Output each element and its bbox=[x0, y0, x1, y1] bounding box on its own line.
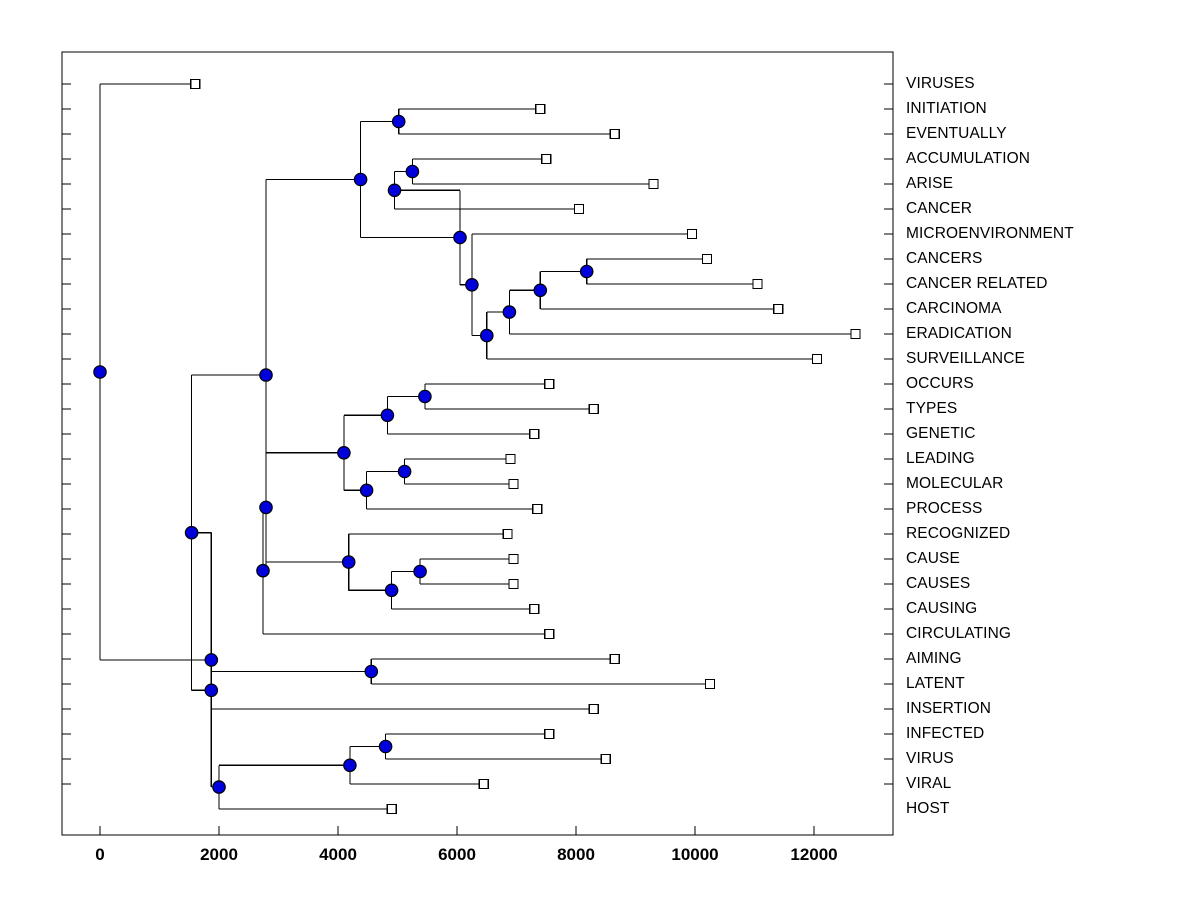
leaf-marker-5 bbox=[575, 205, 584, 214]
leaf-label-infected: INFECTED bbox=[906, 726, 984, 742]
leaf-marker-26 bbox=[545, 730, 554, 739]
dendrogram-canvas bbox=[0, 0, 1200, 900]
cluster-node-z bbox=[534, 284, 546, 296]
leaf-label-recognized: RECOGNIZED bbox=[906, 526, 1010, 542]
leaf-label-genetic: GENETIC bbox=[906, 426, 976, 442]
leaf-marker-20 bbox=[509, 580, 518, 589]
cluster-node-d bbox=[257, 565, 269, 577]
leaf-marker-27 bbox=[601, 755, 610, 764]
cluster-node-t bbox=[414, 565, 426, 577]
cluster-node-y bbox=[503, 306, 515, 318]
leaf-label-initiation: INITIATION bbox=[906, 101, 987, 117]
cluster-node-f bbox=[338, 447, 350, 459]
leaf-label-molecular: MOLECULAR bbox=[906, 476, 1003, 492]
leaf-marker-22 bbox=[545, 630, 554, 639]
leaf-label-types: TYPES bbox=[906, 401, 957, 417]
x-tick-label-1: 2000 bbox=[200, 845, 238, 865]
leaf-label-host: HOST bbox=[906, 801, 949, 817]
leaf-marker-14 bbox=[530, 430, 539, 439]
leaf-marker-17 bbox=[533, 505, 542, 514]
leaf-label-viral: VIRAL bbox=[906, 776, 951, 792]
cluster-node-n bbox=[381, 409, 393, 421]
cluster-node-i bbox=[354, 173, 366, 185]
leaf-marker-29 bbox=[387, 805, 396, 814]
cluster-node-j bbox=[360, 484, 372, 496]
x-tick-label-5: 10000 bbox=[671, 845, 718, 865]
leaf-marker-9 bbox=[774, 305, 783, 314]
leaf-label-cancer: CANCER bbox=[906, 201, 972, 217]
leaf-label-arise: ARISE bbox=[906, 176, 953, 192]
cluster-node-a bbox=[185, 527, 197, 539]
x-tick-label-2: 4000 bbox=[319, 845, 357, 865]
x-tick-label-3: 6000 bbox=[438, 845, 476, 865]
cluster-node-p bbox=[388, 184, 400, 196]
leaf-marker-24 bbox=[705, 680, 714, 689]
leaf-marker-0 bbox=[191, 80, 200, 89]
leaf-marker-8 bbox=[753, 280, 762, 289]
leaf-marker-25 bbox=[589, 705, 598, 714]
leaf-marker-6 bbox=[688, 230, 697, 239]
leaf-label-cancers: CANCERS bbox=[906, 251, 983, 267]
leaf-label-eventually: EVENTUALLY bbox=[906, 126, 1007, 142]
leaf-marker-11 bbox=[813, 355, 822, 364]
dendrogram-figure: VIRUSESINITIATIONEVENTUALLYACCUMULATIONA… bbox=[0, 0, 1200, 900]
cluster-node-w bbox=[466, 279, 478, 291]
cluster-node-b bbox=[205, 684, 217, 696]
cluster-node-g bbox=[343, 556, 355, 568]
leaf-marker-16 bbox=[509, 480, 518, 489]
leaf-label-cause: CAUSE bbox=[906, 551, 960, 567]
leaf-label-aiming: AIMING bbox=[906, 651, 962, 667]
leaf-label-virus: VIRUS bbox=[906, 751, 954, 767]
cluster-node-s bbox=[406, 165, 418, 177]
x-tick-label-6: 12000 bbox=[790, 845, 837, 865]
leaf-label-causing: CAUSING bbox=[906, 601, 977, 617]
leaf-label-carcinoma: CARCINOMA bbox=[906, 301, 1002, 317]
cluster-node-e_mid bbox=[260, 501, 272, 513]
cluster-node-u bbox=[419, 390, 431, 402]
cluster-node-k bbox=[365, 665, 377, 677]
leaf-label-accumulation: ACCUMULATION bbox=[906, 151, 1030, 167]
leaf-label-insertion: INSERTION bbox=[906, 701, 991, 717]
leaf-marker-28 bbox=[479, 780, 488, 789]
cluster-node-r bbox=[398, 465, 410, 477]
cluster-node-h bbox=[344, 759, 356, 771]
cluster-node-big bbox=[205, 654, 217, 666]
cluster-node-x bbox=[481, 329, 493, 341]
leaf-marker-3 bbox=[542, 155, 551, 164]
leaf-label-leading: LEADING bbox=[906, 451, 975, 467]
leaf-marker-21 bbox=[530, 605, 539, 614]
x-tick-label-4: 8000 bbox=[557, 845, 595, 865]
plot-frame bbox=[62, 52, 893, 835]
x-tick-label-0: 0 bbox=[95, 845, 104, 865]
leaf-label-surveillance: SURVEILLANCE bbox=[906, 351, 1025, 367]
cluster-node-v bbox=[454, 231, 466, 243]
leaf-label-circulating: CIRCULATING bbox=[906, 626, 1011, 642]
cluster-node-aa bbox=[581, 265, 593, 277]
leaf-label-causes: CAUSES bbox=[906, 576, 970, 592]
leaf-marker-4 bbox=[649, 180, 658, 189]
leaf-label-process: PROCESS bbox=[906, 501, 983, 517]
leaf-label-viruses: VIRUSES bbox=[906, 76, 975, 92]
cluster-node-root bbox=[94, 366, 106, 378]
leaf-marker-18 bbox=[503, 530, 512, 539]
leaf-label-latent: LATENT bbox=[906, 676, 965, 692]
leaf-marker-2 bbox=[610, 130, 619, 139]
cluster-node-m bbox=[379, 740, 391, 752]
leaf-marker-1 bbox=[536, 105, 545, 114]
cluster-node-q bbox=[393, 115, 405, 127]
cluster-node-c bbox=[213, 781, 225, 793]
leaf-marker-13 bbox=[589, 405, 598, 414]
leaf-label-cancer-related: CANCER RELATED bbox=[906, 276, 1048, 292]
cluster-node-o bbox=[385, 584, 397, 596]
leaf-marker-15 bbox=[506, 455, 515, 464]
leaf-label-microenvironment: MICROENVIRONMENT bbox=[906, 226, 1074, 242]
cluster-node-up_join bbox=[260, 369, 272, 381]
leaf-marker-7 bbox=[702, 255, 711, 264]
leaf-marker-12 bbox=[545, 380, 554, 389]
leaf-marker-10 bbox=[851, 330, 860, 339]
leaf-label-eradication: ERADICATION bbox=[906, 326, 1012, 342]
leaf-marker-23 bbox=[610, 655, 619, 664]
leaf-marker-19 bbox=[509, 555, 518, 564]
leaf-label-occurs: OCCURS bbox=[906, 376, 974, 392]
